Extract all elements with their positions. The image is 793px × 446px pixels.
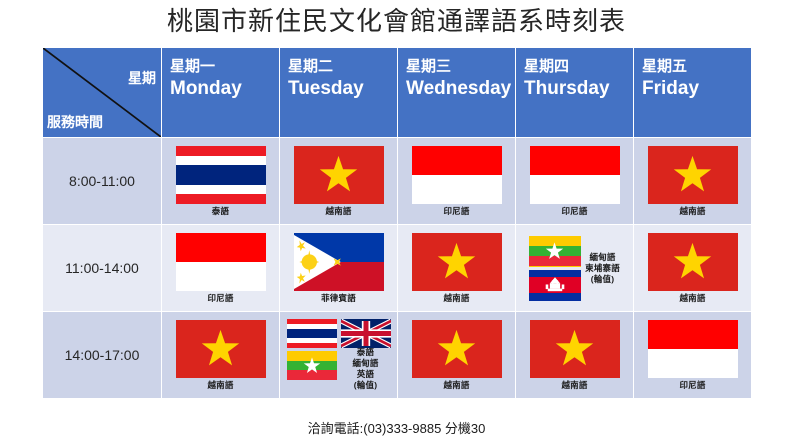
vietnam-flag-icon	[412, 320, 502, 378]
indonesia-flag-icon	[176, 233, 266, 291]
table-body: 8:00-11:00泰語越南語印尼語印尼語越南語11:00-14:00印尼語菲律…	[43, 138, 751, 398]
day-header-zh: 星期三	[406, 57, 515, 77]
day-header-zh: 星期四	[524, 57, 633, 77]
corner-week-label: 星期	[128, 68, 156, 88]
table-row: 11:00-14:00印尼語菲律賓語越南語緬甸語柬埔寨語(輪值)越南語	[43, 225, 751, 311]
day-header-tuesday: 星期二 Tuesday	[280, 48, 397, 137]
language-caption: 越南語	[561, 380, 587, 390]
schedule-cell[interactable]: 緬甸語柬埔寨語(輪值)	[516, 225, 633, 311]
myanmar-flag-icon	[287, 351, 337, 380]
table-row: 14:00-17:00越南語泰語緬甸語英語(輪值)越南語越南語印尼語	[43, 312, 751, 398]
page-title: 桃園市新住民文化會館通譯語系時刻表	[0, 4, 793, 38]
language-caption: 緬甸語柬埔寨語(輪值)	[585, 252, 620, 285]
thailand-flag-icon	[287, 319, 337, 348]
day-header-zh: 星期五	[642, 57, 751, 77]
language-caption: 越南語	[443, 293, 469, 303]
corner-time-label: 服務時間	[47, 112, 103, 132]
language-caption: 泰語緬甸語英語(輪值)	[341, 347, 391, 391]
time-slot-cell: 14:00-17:00	[43, 312, 161, 398]
day-header-zh: 星期一	[170, 57, 279, 77]
day-header-zh: 星期二	[288, 57, 397, 77]
day-header-en: Monday	[170, 77, 279, 100]
schedule-cell[interactable]: 越南語	[634, 225, 751, 311]
schedule-cell[interactable]: 越南語	[162, 312, 279, 398]
language-caption: 印尼語	[443, 206, 469, 216]
schedule-cell[interactable]: 印尼語	[398, 138, 515, 224]
language-caption: 越南語	[679, 293, 705, 303]
language-caption: 越南語	[207, 380, 233, 390]
day-header-monday: 星期一 Monday	[162, 48, 279, 137]
contact-footer: 洽詢電話:(03)333-9885 分機30	[0, 418, 793, 437]
corner-cell: 星期 服務時間	[43, 48, 161, 137]
slide-page: 桃園市新住民文化會館通譯語系時刻表 星期 服務時間 星期一	[0, 0, 793, 446]
schedule-cell[interactable]: 泰語緬甸語英語(輪值)	[280, 312, 397, 398]
vietnam-flag-icon	[648, 146, 738, 204]
schedule-cell[interactable]: 印尼語	[634, 312, 751, 398]
language-caption: 越南語	[679, 206, 705, 216]
language-caption: 泰語	[212, 206, 229, 216]
day-header-friday: 星期五 Friday	[634, 48, 751, 137]
language-caption: 越南語	[325, 206, 351, 216]
schedule-cell[interactable]: 印尼語	[516, 138, 633, 224]
vietnam-flag-icon	[294, 146, 384, 204]
day-header-en: Thursday	[524, 77, 633, 100]
vietnam-flag-icon	[176, 320, 266, 378]
vietnam-flag-icon	[530, 320, 620, 378]
schedule-cell[interactable]: 越南語	[634, 138, 751, 224]
schedule-cell[interactable]: 越南語	[516, 312, 633, 398]
uk-flag-icon	[341, 319, 391, 348]
vietnam-flag-icon	[648, 233, 738, 291]
thailand-flag-icon	[176, 146, 266, 204]
language-caption: 菲律賓語	[321, 293, 356, 303]
indonesia-flag-icon	[648, 320, 738, 378]
table-row: 8:00-11:00泰語越南語印尼語印尼語越南語	[43, 138, 751, 224]
language-caption: 越南語	[443, 380, 469, 390]
cambodia-flag-icon	[529, 270, 581, 301]
schedule-table: 星期 服務時間 星期一 Monday 星期二 Tuesday 星期三 Wedne…	[42, 47, 752, 399]
day-header-thursday: 星期四 Thursday	[516, 48, 633, 137]
schedule-cell[interactable]: 印尼語	[162, 225, 279, 311]
table-header-row: 星期 服務時間 星期一 Monday 星期二 Tuesday 星期三 Wedne…	[43, 48, 751, 137]
language-caption: 印尼語	[207, 293, 233, 303]
schedule-cell[interactable]: 越南語	[398, 312, 515, 398]
day-header-en: Tuesday	[288, 77, 397, 100]
indonesia-flag-icon	[412, 146, 502, 204]
philippines-flag-icon	[294, 233, 384, 291]
schedule-cell[interactable]: 菲律賓語	[280, 225, 397, 311]
language-caption: 印尼語	[561, 206, 587, 216]
indonesia-flag-icon	[530, 146, 620, 204]
day-header-en: Friday	[642, 77, 751, 100]
day-header-wednesday: 星期三 Wednesday	[398, 48, 515, 137]
myanmar-flag-icon	[529, 236, 581, 267]
language-caption: 印尼語	[679, 380, 705, 390]
schedule-cell[interactable]: 泰語	[162, 138, 279, 224]
time-slot-cell: 11:00-14:00	[43, 225, 161, 311]
schedule-cell[interactable]: 越南語	[280, 138, 397, 224]
schedule-cell[interactable]: 越南語	[398, 225, 515, 311]
time-slot-cell: 8:00-11:00	[43, 138, 161, 224]
day-header-en: Wednesday	[406, 77, 515, 100]
vietnam-flag-icon	[412, 233, 502, 291]
